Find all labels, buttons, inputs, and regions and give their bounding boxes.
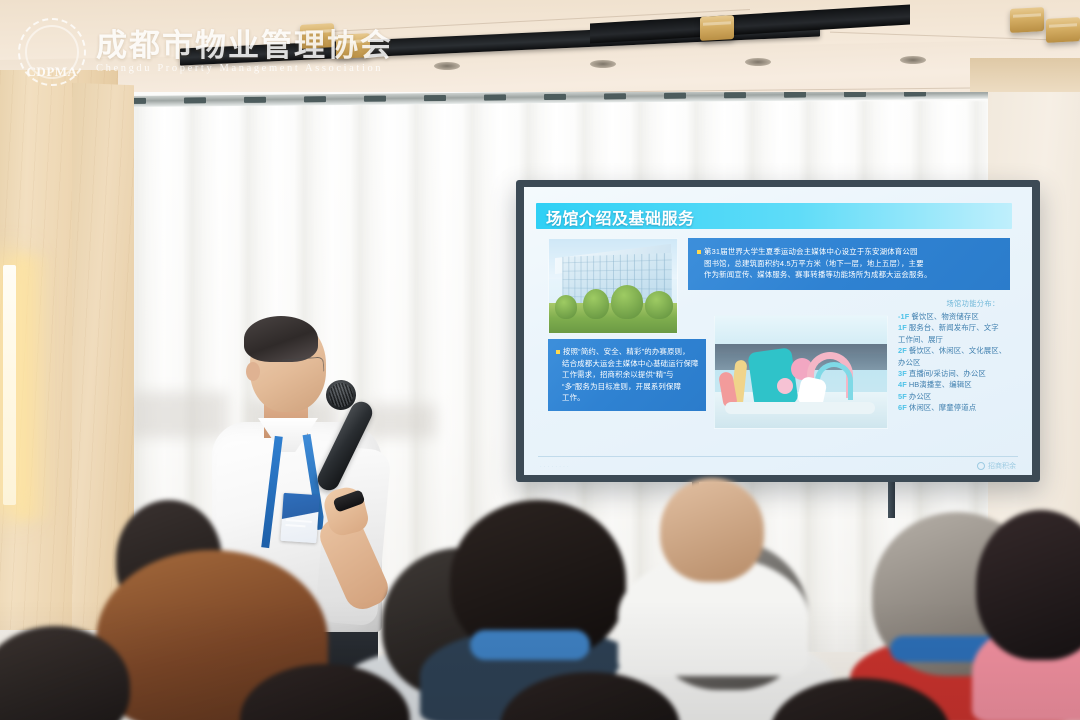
conference-room-photo: 场馆介绍及基础服务 第31届世界大学 [0,0,1080,720]
lanyard-icon [470,630,590,660]
audience-group [0,0,1080,720]
audience-member [660,478,764,582]
